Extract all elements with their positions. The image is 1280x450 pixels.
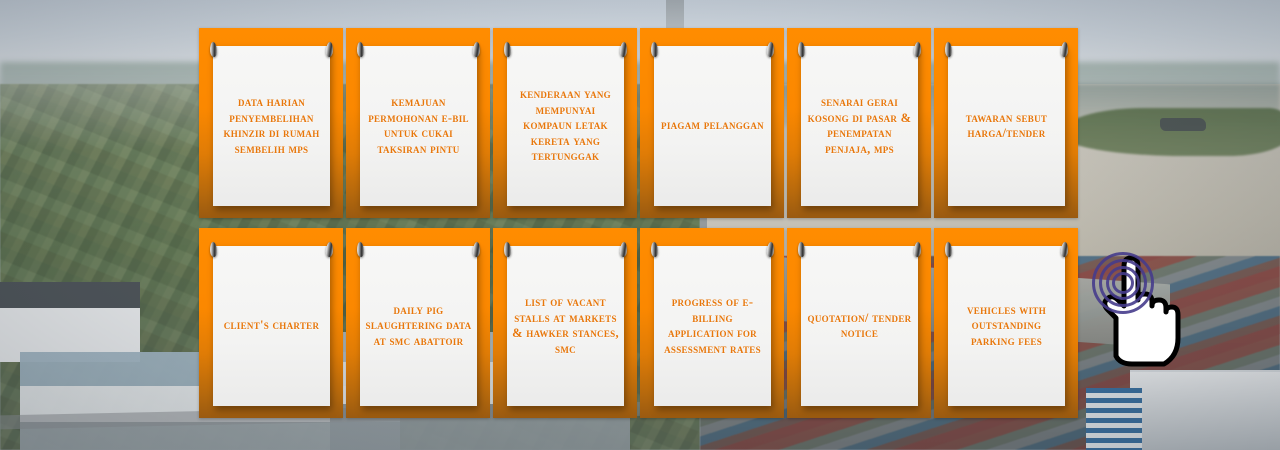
quick-link-tile-kemajuan-permohonan-e-bil[interactable]: Kemajuan Permohonan e-Bil Untuk Cukai Ta… — [346, 28, 490, 218]
quick-link-label: Client's Charter — [220, 318, 324, 334]
quick-link-tile-senarai-gerai-kosong[interactable]: Senarai Gerai Kosong di Pasar & Penempat… — [787, 28, 931, 218]
pin-icon — [650, 242, 658, 257]
pin-icon — [209, 242, 217, 257]
pin-icon — [503, 42, 511, 57]
quick-links-grid: Data Harian Penyembelihan Khinzir Di Rum… — [199, 28, 1081, 418]
pin-icon — [472, 242, 480, 257]
quick-link-tile-clients-charter[interactable]: Client's Charter — [199, 228, 343, 418]
pin-icon — [503, 242, 511, 257]
pin-icon — [650, 42, 658, 57]
quick-link-card[interactable]: Kenderaan Yang Mempunyai Kompaun Letak K… — [507, 46, 624, 206]
quick-link-label: Progress Of e-Billing Application For As… — [654, 295, 771, 357]
quick-link-label: List Of Vacant Stalls At Markets & Hawke… — [507, 295, 624, 357]
quick-link-label: Piagam Pelanggan — [657, 118, 768, 134]
pin-icon — [797, 42, 805, 57]
quick-link-card[interactable]: Progress Of e-Billing Application For As… — [654, 246, 771, 406]
quick-link-label: Kemajuan Permohonan e-Bil Untuk Cukai Ta… — [360, 95, 477, 157]
quick-link-label: Senarai Gerai Kosong di Pasar & Penempat… — [801, 95, 918, 157]
quick-link-label: Vehicles With Outstanding Parking Fees — [948, 303, 1065, 350]
quick-link-card[interactable]: Daily Pig Slaughtering Data At SMC Abatt… — [360, 246, 477, 406]
pin-icon — [209, 42, 217, 57]
quick-link-tile-daily-pig-slaughtering-data[interactable]: Daily Pig Slaughtering Data At SMC Abatt… — [346, 228, 490, 418]
pin-icon — [913, 42, 921, 57]
quick-link-card[interactable]: Client's Charter — [213, 246, 330, 406]
pin-icon — [944, 42, 952, 57]
quick-link-tile-tawaran-sebut-harga-tender[interactable]: Tawaran Sebut Harga/Tender — [934, 28, 1078, 218]
pin-icon — [619, 242, 627, 257]
quick-link-tile-vehicles-with-outstanding-parking-fees[interactable]: Vehicles With Outstanding Parking Fees — [934, 228, 1078, 418]
quick-link-card[interactable]: Piagam Pelanggan — [654, 46, 771, 206]
quick-link-tile-progress-of-e-billing-application[interactable]: Progress Of e-Billing Application For As… — [640, 228, 784, 418]
quick-link-card[interactable]: Tawaran Sebut Harga/Tender — [948, 46, 1065, 206]
quick-link-label: Daily Pig Slaughtering Data At SMC Abatt… — [360, 303, 477, 350]
quick-link-tile-data-harian-penyembelihan-khinzir[interactable]: Data Harian Penyembelihan Khinzir Di Rum… — [199, 28, 343, 218]
pin-icon — [797, 242, 805, 257]
quick-link-card[interactable]: List Of Vacant Stalls At Markets & Hawke… — [507, 246, 624, 406]
quick-link-tile-piagam-pelanggan[interactable]: Piagam Pelanggan — [640, 28, 784, 218]
quick-link-label: Kenderaan Yang Mempunyai Kompaun Letak K… — [507, 87, 624, 165]
page-root: Data Harian Penyembelihan Khinzir Di Rum… — [0, 0, 1280, 450]
quick-link-card[interactable]: Kemajuan Permohonan e-Bil Untuk Cukai Ta… — [360, 46, 477, 206]
pin-icon — [944, 242, 952, 257]
pin-icon — [472, 42, 480, 57]
pin-icon — [913, 242, 921, 257]
pin-icon — [356, 242, 364, 257]
pin-icon — [1060, 242, 1068, 257]
quick-link-label: Tawaran Sebut Harga/Tender — [948, 111, 1065, 142]
pin-icon — [356, 42, 364, 57]
pin-icon — [325, 242, 333, 257]
pin-icon — [766, 42, 774, 57]
quick-link-card[interactable]: Senarai Gerai Kosong di Pasar & Penempat… — [801, 46, 918, 206]
quick-link-label: Quotation/ Tender Notice — [801, 311, 918, 342]
quick-links-row-bottom: Client's Charter Daily Pig Slaughtering … — [199, 228, 1081, 418]
quick-link-tile-quotation-tender-notice[interactable]: Quotation/ Tender Notice — [787, 228, 931, 418]
pin-icon — [1060, 42, 1068, 57]
quick-link-label: Data Harian Penyembelihan Khinzir Di Rum… — [213, 95, 330, 157]
quick-link-card[interactable]: Vehicles With Outstanding Parking Fees — [948, 246, 1065, 406]
quick-links-row-top: Data Harian Penyembelihan Khinzir Di Rum… — [199, 28, 1081, 218]
pin-icon — [619, 42, 627, 57]
pin-icon — [766, 242, 774, 257]
pin-icon — [325, 42, 333, 57]
quick-link-tile-list-of-vacant-stalls[interactable]: List Of Vacant Stalls At Markets & Hawke… — [493, 228, 637, 418]
quick-link-card[interactable]: Data Harian Penyembelihan Khinzir Di Rum… — [213, 46, 330, 206]
quick-link-card[interactable]: Quotation/ Tender Notice — [801, 246, 918, 406]
quick-link-tile-kenderaan-kompaun-letak-kereta[interactable]: Kenderaan Yang Mempunyai Kompaun Letak K… — [493, 28, 637, 218]
